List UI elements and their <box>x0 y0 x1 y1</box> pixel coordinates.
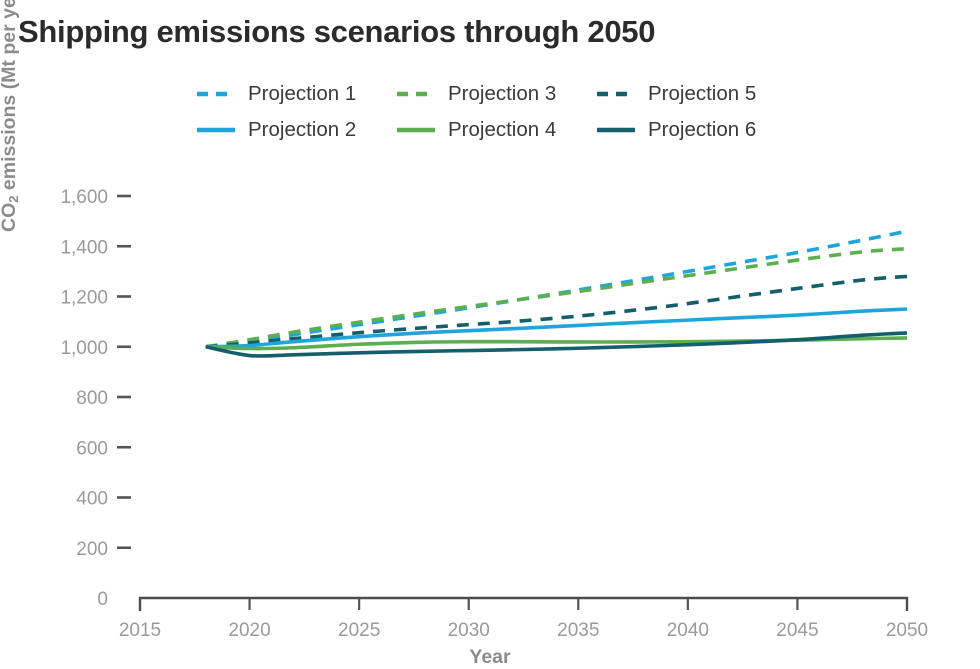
y-tick-label: 1,000 <box>60 338 108 359</box>
x-axis-ticks: 20152020202520302035204020452050 <box>119 598 928 641</box>
y-axis-label-subscript: 2 <box>6 196 21 203</box>
plot-area: 02004006008001,0001,2001,4001,600 201520… <box>0 0 980 666</box>
y-tick-label: 1,200 <box>60 288 108 309</box>
x-tick-label: 2040 <box>667 620 709 641</box>
y-axis-ticks: 02004006008001,0001,2001,4001,600 <box>60 187 131 610</box>
x-tick-label: 2015 <box>119 620 161 641</box>
y-tick-label: 600 <box>76 438 108 459</box>
x-tick-label: 2035 <box>557 620 599 641</box>
y-axis-label-rest: emissions (Mt per year) <box>0 0 20 196</box>
data-series-group <box>206 231 907 356</box>
x-tick-label: 2020 <box>228 620 270 641</box>
x-axis-line <box>140 598 907 611</box>
chart-container: Shipping emissions scenarios through 205… <box>0 0 980 666</box>
x-tick-label: 2045 <box>776 620 818 641</box>
x-tick-label: 2025 <box>338 620 380 641</box>
y-tick-label: 800 <box>76 388 108 409</box>
x-tick-label: 2030 <box>448 620 490 641</box>
y-tick-label: 0 <box>97 589 108 610</box>
y-tick-label: 1,400 <box>60 237 108 258</box>
axis-lines <box>140 598 907 611</box>
y-tick-label: 400 <box>76 489 108 510</box>
y-tick-label: 1,600 <box>60 187 108 208</box>
y-axis-label: CO2 emissions (Mt per year) <box>0 0 21 232</box>
series-line-projection-5 <box>206 276 907 346</box>
y-tick-label: 200 <box>76 539 108 560</box>
y-axis-label-main: CO <box>0 203 20 232</box>
x-tick-label: 2050 <box>886 620 928 641</box>
